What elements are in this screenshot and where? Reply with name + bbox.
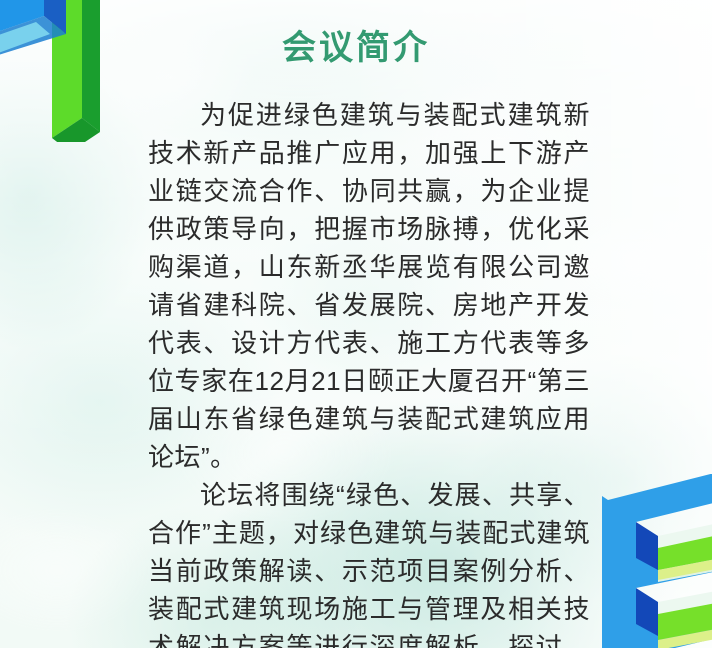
paragraph-2: 论坛将围绕“绿色、发展、共享、合作”主题，对绿色建筑与装配式建筑当前政策解读、示… bbox=[148, 476, 590, 648]
green-3d-bracket-icon bbox=[0, 0, 132, 142]
paragraph-1: 为促进绿色建筑与装配式建筑新技术新产品推广应用，加强上下游产业链交流合作、协同共… bbox=[148, 96, 590, 476]
page-title: 会议简介 bbox=[0, 26, 712, 70]
conference-intro-poster: 会议简介 为促进绿色建筑与装配式建筑新技术新产品推广应用，加强上下游产业链交流合… bbox=[0, 0, 712, 648]
body-text-block: 为促进绿色建筑与装配式建筑新技术新产品推广应用，加强上下游产业链交流合作、协同共… bbox=[148, 96, 590, 648]
blue-3d-bracket-icon bbox=[572, 474, 712, 648]
